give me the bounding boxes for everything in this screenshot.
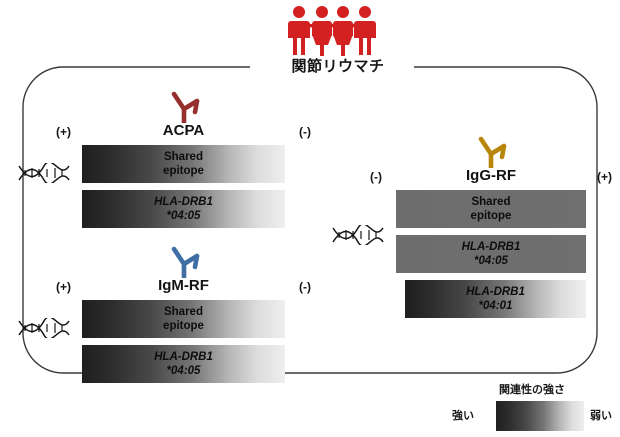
sign-left-igg-rf: (-) (370, 169, 382, 185)
dna-helix-icon (330, 225, 386, 245)
bar-hla-drb1-0405: HLA-DRB1 *04:05 (82, 190, 285, 228)
dna-helix-icon (16, 318, 72, 338)
bar-shared-epitope: Shared epitope (396, 190, 586, 228)
sign-right-acpa: (-) (299, 124, 311, 140)
dna-helix-icon (16, 163, 72, 183)
bar-label: HLA-DRB1 *04:05 (154, 195, 213, 223)
bar-shared-epitope: Shared epitope (82, 300, 285, 338)
sign-left-igm-rf: (+) (56, 279, 71, 295)
antibody-icon (161, 244, 207, 278)
sign-right-igg-rf: (+) (597, 169, 612, 185)
legend-title: 関連性の強さ (452, 383, 612, 397)
legend: 関連性の強さ 強い 弱い (452, 383, 612, 433)
bar-label: HLA-DRB1 *04:05 (462, 240, 521, 268)
antibody-icon (468, 134, 514, 168)
group-title-igg-rf: IgG-RF (396, 168, 586, 184)
sign-right-igm-rf: (-) (299, 279, 311, 295)
legend-strong-label: 強い (452, 409, 474, 423)
group-title-acpa: ACPA (82, 123, 285, 139)
bar-hla-drb1-0405: HLA-DRB1 *04:05 (82, 345, 285, 383)
four-people-icon (285, 4, 377, 56)
bar-stack-acpa: Shared epitope HLA-DRB1 *04:05 (82, 145, 285, 235)
bar-label: HLA-DRB1 *04:05 (154, 350, 213, 378)
bar-shared-epitope: Shared epitope (82, 145, 285, 183)
bar-label: Shared epitope (471, 195, 512, 223)
legend-gradient-bar (496, 401, 584, 431)
page-title: 関節リウマチ (262, 58, 414, 76)
bar-label: Shared epitope (163, 305, 204, 333)
diagram-canvas: 関節リウマチ ACPA (+) (-) Shared epitope HLA-D… (0, 0, 620, 437)
bar-hla-drb1-0401: HLA-DRB1 *04:01 (405, 280, 586, 318)
bar-hla-drb1-0405: HLA-DRB1 *04:05 (396, 235, 586, 273)
antibody-icon (161, 89, 207, 123)
bar-label: Shared epitope (163, 150, 204, 178)
bar-label: HLA-DRB1 *04:01 (466, 285, 525, 313)
group-title-igm-rf: IgM-RF (82, 278, 285, 294)
legend-weak-label: 弱い (590, 409, 612, 423)
bar-stack-igg-rf: Shared epitope HLA-DRB1 *04:05 HLA-DRB1 … (396, 190, 586, 325)
bar-stack-igm-rf: Shared epitope HLA-DRB1 *04:05 (82, 300, 285, 390)
sign-left-acpa: (+) (56, 124, 71, 140)
